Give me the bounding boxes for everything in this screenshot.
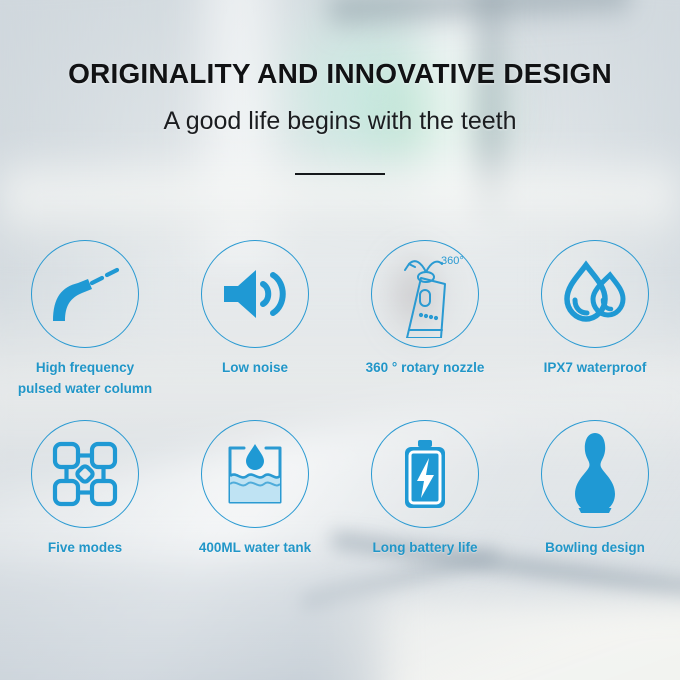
feature-caption: Bowling design bbox=[507, 538, 680, 559]
feature-caption-line1: 360 ° rotary nozzle bbox=[366, 360, 485, 375]
page-subtitle: A good life begins with the teeth bbox=[0, 107, 680, 136]
feature-caption-line1: 400ML water tank bbox=[199, 540, 311, 555]
feature-grid: High frequency pulsed water column L bbox=[0, 240, 680, 580]
promo-banner: ORIGINALITY AND INNOVATIVE DESIGN A good… bbox=[0, 0, 680, 680]
feature-ipx7-waterproof[interactable]: IPX7 waterproof bbox=[510, 240, 680, 420]
feature-360-rotary-nozzle[interactable]: 360° 360 ° rotary nozzle bbox=[340, 240, 510, 420]
feature-caption: IPX7 waterproof bbox=[507, 358, 680, 379]
feature-row-1: High frequency pulsed water column L bbox=[0, 240, 680, 420]
feature-low-noise[interactable]: Low noise bbox=[170, 240, 340, 420]
title-divider bbox=[295, 173, 385, 175]
feature-caption-line1: High frequency bbox=[36, 360, 134, 375]
feature-caption-line1: Bowling design bbox=[545, 540, 645, 555]
feature-high-frequency-pulsed-water-column[interactable]: High frequency pulsed water column bbox=[0, 240, 170, 420]
feature-caption: High frequency pulsed water column bbox=[0, 358, 173, 400]
rotary-icon-degree-text: 360° bbox=[441, 255, 464, 267]
feature-icon-circle bbox=[31, 240, 139, 348]
water-tank-icon bbox=[222, 440, 288, 508]
speaker-sound-icon bbox=[220, 265, 290, 323]
water-droplets-icon bbox=[558, 259, 632, 329]
battery-bolt-icon bbox=[399, 438, 451, 510]
feature-icon-circle bbox=[541, 240, 649, 348]
feature-icon-circle bbox=[371, 420, 479, 528]
feature-five-modes[interactable]: Five modes bbox=[0, 420, 170, 580]
four-squares-modes-icon bbox=[52, 441, 118, 507]
feature-caption-line1: Five modes bbox=[48, 540, 122, 555]
water-jet-nozzle-icon bbox=[48, 263, 122, 325]
feature-bowling-design[interactable]: Bowling design bbox=[510, 420, 680, 580]
rotary-nozzle-device-icon: 360° bbox=[385, 250, 465, 338]
feature-caption-line1: Low noise bbox=[222, 360, 288, 375]
feature-caption-line1: Long battery life bbox=[372, 540, 477, 555]
feature-icon-circle bbox=[201, 240, 309, 348]
feature-caption: 360 ° rotary nozzle bbox=[337, 358, 513, 379]
feature-icon-circle bbox=[201, 420, 309, 528]
feature-caption: 400ML water tank bbox=[167, 538, 343, 559]
feature-icon-circle bbox=[541, 420, 649, 528]
bowling-pin-icon bbox=[572, 432, 618, 516]
feature-caption: Low noise bbox=[167, 358, 343, 379]
feature-caption-line1: IPX7 waterproof bbox=[544, 360, 647, 375]
page-title: ORIGINALITY AND INNOVATIVE DESIGN bbox=[0, 58, 680, 90]
feature-long-battery-life[interactable]: Long battery life bbox=[340, 420, 510, 580]
feature-row-2: Five modes 400ML bbox=[0, 420, 680, 580]
feature-caption: Long battery life bbox=[337, 538, 513, 559]
feature-caption: Five modes bbox=[0, 538, 173, 559]
feature-icon-circle: 360° bbox=[371, 240, 479, 348]
feature-icon-circle bbox=[31, 420, 139, 528]
feature-caption-line2: pulsed water column bbox=[18, 381, 152, 396]
feature-400ml-water-tank[interactable]: 400ML water tank bbox=[170, 420, 340, 580]
